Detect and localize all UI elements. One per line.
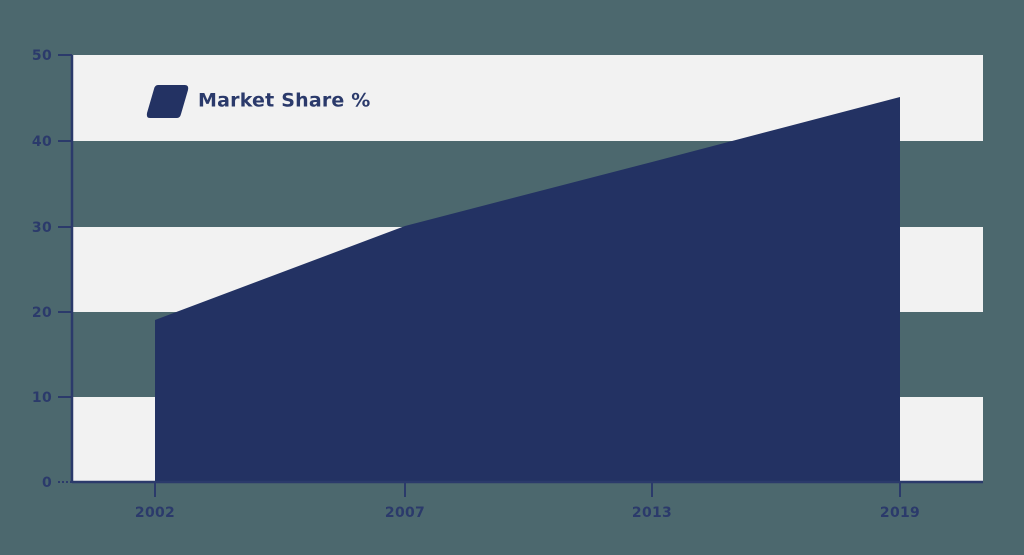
y-axis-label-40: 40 (32, 134, 52, 150)
x-axis-label-2007: 2007 (385, 505, 425, 521)
area-fill-market-share (155, 97, 900, 482)
y-axis-label-50: 50 (32, 48, 52, 64)
y-axis-labels: 0 10 20 30 40 50 (32, 48, 52, 491)
x-axis-ticks (155, 482, 900, 497)
y-axis-label-10: 10 (32, 390, 52, 406)
x-axis-label-2002: 2002 (135, 505, 175, 521)
area-chart: 0 10 20 30 40 50 2002 2007 2013 2019 Mar… (0, 0, 1024, 555)
y-axis-label-30: 30 (32, 220, 52, 236)
y-axis-label-20: 20 (32, 305, 52, 321)
legend-label-market-share: Market Share % (198, 90, 371, 112)
x-axis-label-2013: 2013 (632, 505, 672, 521)
chart-canvas: 0 10 20 30 40 50 2002 2007 2013 2019 Mar… (0, 0, 1024, 555)
y-axis-label-0: 0 (42, 475, 52, 491)
x-axis-labels: 2002 2007 2013 2019 (135, 505, 920, 521)
x-axis-label-2019: 2019 (880, 505, 920, 521)
y-axis-ticks (58, 55, 72, 482)
series-market-share (155, 97, 900, 482)
